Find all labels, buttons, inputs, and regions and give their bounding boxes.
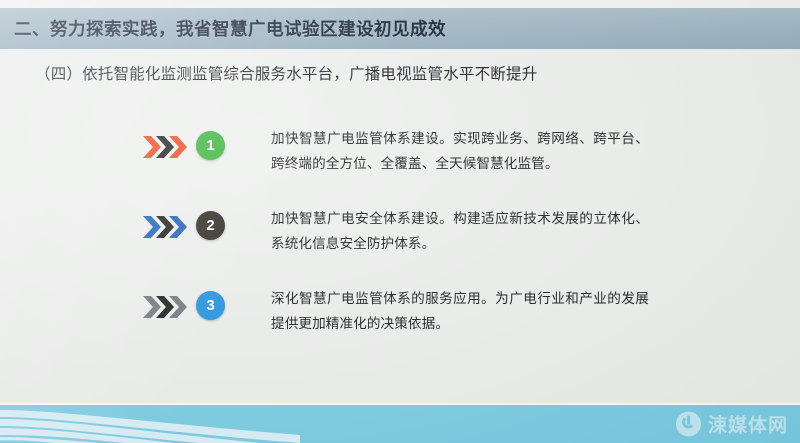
footer-band-edge bbox=[0, 403, 800, 405]
triple-chevron-right-icon bbox=[142, 134, 190, 160]
list-item: 2 加快智慧广电安全体系建设。构建适应新技术发展的立体化、系统化信息安全防护体系… bbox=[0, 206, 800, 286]
bullet-text: 加快智慧广电监管体系建设。实现跨业务、跨网络、跨平台、跨终端的全方位、全覆盖、全… bbox=[271, 126, 649, 176]
slide-subtitle: （四）依托智能化监测监管综合服务水平台，广播电视监管水平不断提升 bbox=[35, 62, 537, 84]
presentation-slide: 二、努力探索实践，我省智慧广电试验区建设初见成效 （四）依托智能化监测监管综合服… bbox=[0, 0, 800, 443]
bullet-text: 深化智慧广电监管体系的服务应用。为广电行业和产业的发展提供更加精准化的决策依据。 bbox=[271, 286, 649, 336]
bullet-text: 加快智慧广电安全体系建设。构建适应新技术发展的立体化、系统化信息安全防护体系。 bbox=[271, 206, 649, 256]
site-watermark: 涑媒体网 bbox=[676, 411, 788, 438]
list-item: 1 加快智慧广电监管体系建设。实现跨业务、跨网络、跨平台、跨终端的全方位、全覆盖… bbox=[0, 126, 800, 206]
slide-content-area: （四）依托智能化监测监管综合服务水平台，广播电视监管水平不断提升 1 加快智慧广… bbox=[0, 49, 800, 405]
bullet-number-badge: 1 bbox=[196, 131, 225, 160]
bullet-number-badge: 3 bbox=[196, 291, 225, 320]
slide-footer-band: 涑媒体网 bbox=[0, 405, 800, 443]
slide-header-band: 二、努力探索实践，我省智慧广电试验区建设初见成效 bbox=[0, 8, 800, 49]
triple-chevron-right-icon bbox=[142, 214, 190, 240]
bullet-number-badge: 2 bbox=[196, 211, 225, 240]
circle-play-logo-icon bbox=[676, 412, 701, 437]
bullet-list: 1 加快智慧广电监管体系建设。实现跨业务、跨网络、跨平台、跨终端的全方位、全覆盖… bbox=[0, 126, 800, 366]
list-item: 3 深化智慧广电监管体系的服务应用。为广电行业和产业的发展提供更加精准化的决策依… bbox=[0, 286, 800, 366]
watermark-label: 涑媒体网 bbox=[708, 411, 788, 438]
slide-header-title: 二、努力探索实践，我省智慧广电试验区建设初见成效 bbox=[14, 16, 446, 41]
swoosh-decoration bbox=[0, 405, 300, 443]
slide-top-margin bbox=[0, 0, 800, 8]
triple-chevron-right-icon bbox=[142, 294, 190, 320]
